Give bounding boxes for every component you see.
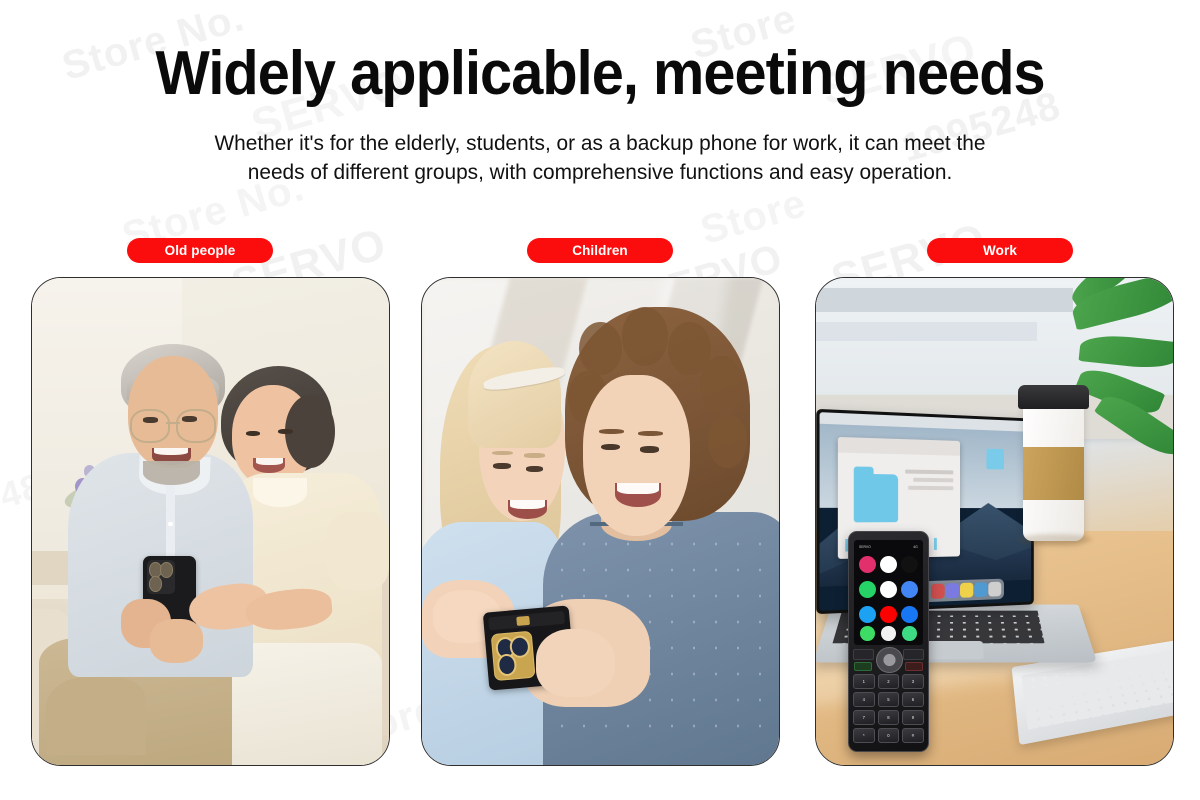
camera-module [147,560,175,595]
folder-icon [853,474,898,522]
status-network: 4G [913,545,918,549]
app-icon-twitter[interactable] [859,606,876,623]
man-hand-right [150,619,204,663]
glasses-icon [130,409,216,438]
keypad-key[interactable]: 5 [878,692,900,707]
keypad-key[interactable]: 6 [902,692,924,707]
man-beard [143,461,200,485]
man-eye-left [143,417,158,422]
photo-children [422,278,779,765]
app-icon-chrome[interactable] [901,581,918,598]
app-grid [859,554,918,626]
shirt-button [168,522,172,526]
file-row [905,470,952,474]
photo-elderly-couple [32,278,389,765]
photo-card-children[interactable] [421,277,780,766]
keypad-key[interactable]: # [902,728,924,743]
keypad-key[interactable]: 1 [853,674,875,689]
app-icon-whatsapp[interactable] [859,581,876,598]
app-icon-play-store[interactable] [880,556,897,573]
boy-eye-right [640,446,660,453]
woman-eye-right [278,429,292,434]
girl-eye-left [493,463,511,469]
camera-module [491,631,536,682]
girl-hair-front [468,341,561,448]
boy-hand [536,629,615,697]
phone-status-bar: SERVO 4G [858,543,919,550]
girl-smile [508,500,547,519]
woman-sleeve [325,512,389,590]
keypad-key[interactable]: 7 [853,710,875,725]
dock-icon-camera[interactable] [881,626,896,641]
camera-lens-icon [149,576,162,591]
dock-app-icon[interactable] [930,584,944,599]
phone-keypad: 123456789*0# [852,645,924,746]
badge-work[interactable]: Work [927,238,1073,263]
page-subtitle: Whether it's for the elderly, students, … [164,129,1037,187]
window-blind [816,322,1037,341]
keypad-key[interactable]: 2 [878,674,900,689]
window-blind [816,288,1073,312]
woman-smile [253,458,285,473]
girl-eye-right [526,466,544,472]
app-icon-facebook[interactable] [901,606,918,623]
photo-card-row: SERVO 4G 123456789*0# [0,277,1200,767]
girl-eyebrow-right [524,453,545,457]
cup-lid [1018,385,1090,410]
softkey-right [903,649,924,660]
cup-sleeve [1023,447,1084,500]
hair-curl [579,322,622,376]
lens-left [130,409,170,442]
header-block: Widely applicable, meeting needs Whether… [0,42,1200,187]
man-knee [46,677,146,755]
category-badges: Old people Children Work [0,238,1200,264]
app-icon-instagram[interactable] [859,556,876,573]
subtitle-line-2: needs of different groups, with comprehe… [164,158,1037,187]
keypad-key[interactable]: 9 [902,710,924,725]
dock-app-icon[interactable] [945,584,958,599]
photo-work-desk: SERVO 4G 123456789*0# [816,278,1173,765]
gold-accent [516,616,530,626]
promo-page: Store No.SERVOStoreSERVO1995248Store No.… [0,0,1200,800]
photo-card-work[interactable]: SERVO 4G 123456789*0# [815,277,1174,766]
softkey-left [853,649,874,660]
keypad-key[interactable]: 4 [853,692,875,707]
dock-icon-phone[interactable] [860,626,875,641]
lens-right [176,409,216,442]
woman-collar [253,478,307,507]
boy-smile [615,483,661,507]
end-call-key [905,662,923,671]
phone-screen: SERVO 4G [854,540,923,645]
dock-icon-messages[interactable] [902,626,917,641]
dpad-navigation-icon [876,647,903,673]
keypad-key[interactable]: 3 [902,674,924,689]
page-title: Widely applicable, meeting needs [42,42,1158,105]
keypad-key[interactable]: 8 [878,710,900,725]
photo-card-old-people[interactable] [31,277,390,766]
app-icon-tiktok[interactable] [901,556,918,573]
girl-eyebrow-left [492,451,513,455]
dock-app-icon[interactable] [974,583,987,598]
badge-children[interactable]: Children [527,238,673,263]
keypad-key[interactable]: * [853,728,875,743]
keypad-key[interactable]: 0 [878,728,900,743]
file-row [907,487,952,491]
status-carrier: SERVO [859,545,871,549]
desktop-folder-icon [986,449,1004,470]
boy-face [583,375,690,536]
feature-phone: SERVO 4G 123456789*0# [848,531,929,752]
coffee-cup [1023,395,1084,541]
number-keys: 123456789*0# [853,674,924,743]
boy-eyebrow-left [599,429,624,434]
call-key [854,662,872,671]
file-row [912,478,952,482]
badge-old-people[interactable]: Old people [127,238,273,263]
hair-curl [708,414,747,468]
window-titlebar [838,437,960,456]
hair-curl [622,307,668,365]
app-icon-youtube[interactable] [880,606,897,623]
subtitle-line-1: Whether it's for the elderly, students, … [164,129,1037,158]
dock-app-icon[interactable] [960,583,973,598]
woman-hair-bun [285,395,335,468]
camera-lens-icon [160,562,173,577]
app-icon-google[interactable] [880,581,897,598]
phone-dock [860,625,917,642]
boy-eyebrow-right [638,431,663,436]
man-eye-right [182,416,197,421]
dock-app-icon[interactable] [988,582,1001,597]
boy-eye-left [601,444,621,451]
